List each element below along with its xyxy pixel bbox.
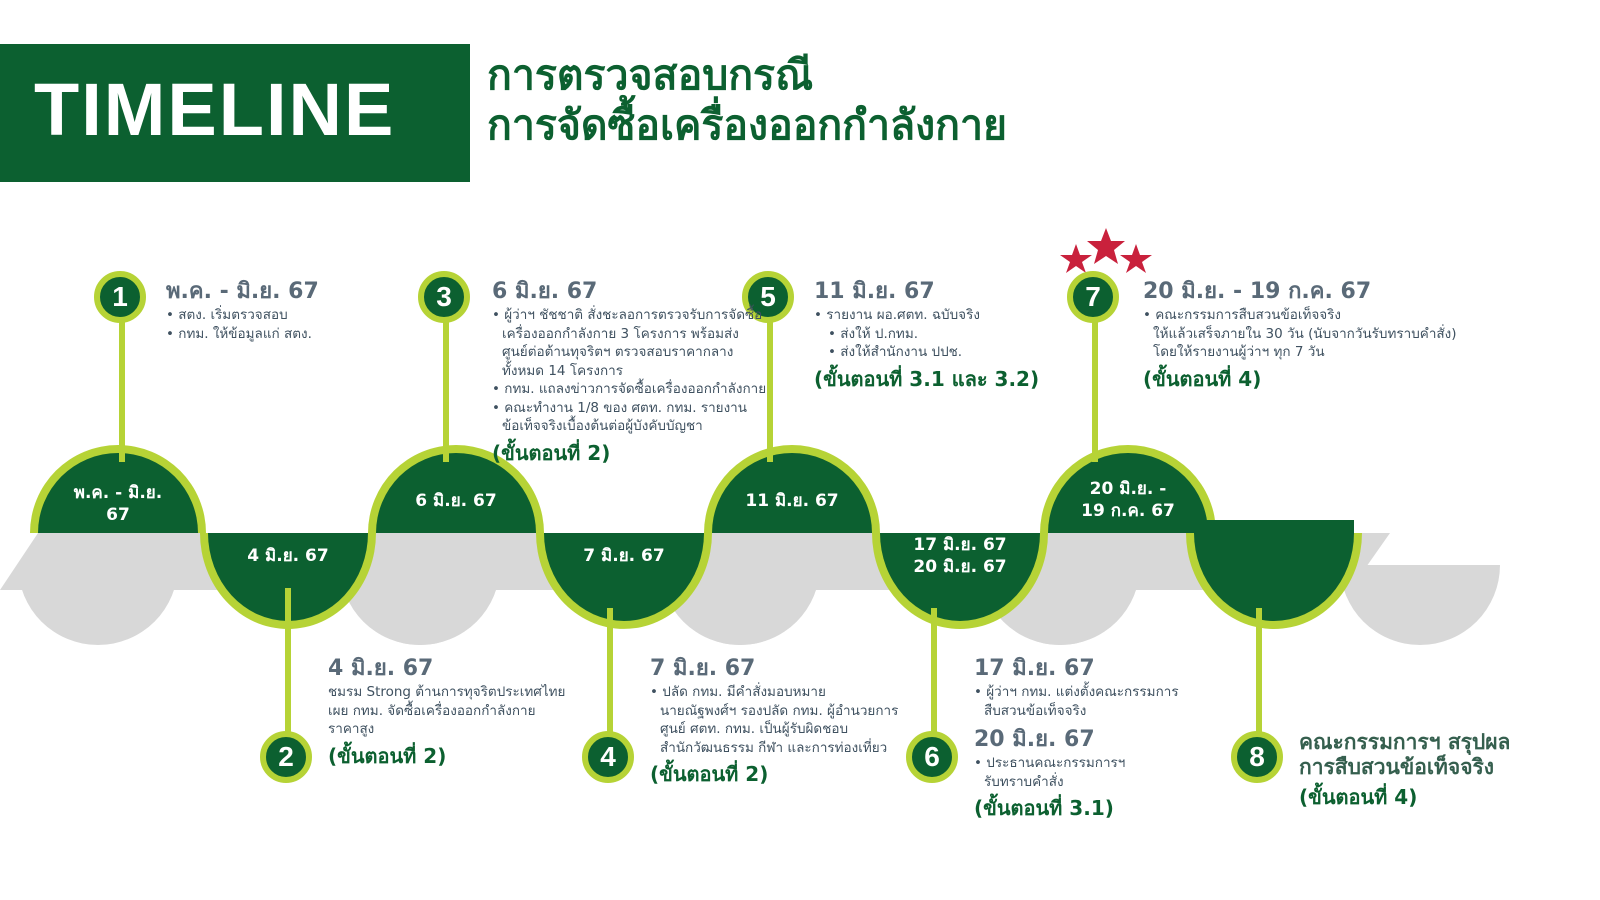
stem-3: [443, 310, 449, 462]
step-5-stage-tag: (ขั้นตอนที่ 3.1 และ 3.2): [814, 366, 1074, 392]
step-badge-7[interactable]: 7: [1067, 271, 1119, 323]
star-icon-left: [1060, 244, 1092, 273]
step-2-line-2: เผย กทม. จัดซื้อเครื่องออกกำลังกาย: [328, 702, 628, 721]
list-item-cont: สืบสวนข้อเท็จจริง: [974, 702, 1234, 721]
list-item-cont: สำนักวัฒนธรรม กีฬา และการท่องเที่ยว: [650, 739, 960, 758]
dome-label-4: 7 มิ.ย. 67: [544, 545, 704, 567]
stem-1: [119, 310, 125, 462]
list-item-cont: ศูนย์ ศตท. กทม. เป็นผู้รับผิดชอบ: [650, 720, 960, 739]
step-7-stage-tag: (ขั้นตอนที่ 4): [1143, 366, 1463, 392]
step-7-date: 20 มิ.ย. - 19 ก.ค. 67: [1143, 278, 1463, 305]
list-item-cont: ให้แล้วเสร็จภายใน 30 วัน (นับจากวันรับทร…: [1143, 325, 1463, 344]
dome-label-1-line1: พ.ค. - มิ.ย.: [74, 483, 162, 503]
dome-label-6: 17 มิ.ย. 67 20 มิ.ย. 67: [880, 534, 1040, 578]
step-5-bullets: รายงาน ผอ.ศตท. ฉบับจริง ส่งให้ ป.กทม. ส่…: [814, 306, 1074, 362]
step-6-stage-tag: (ขั้นตอนที่ 3.1): [974, 795, 1234, 821]
step-6-bullets-1: ผู้ว่าฯ กทม. แต่งตั้งคณะกรรมการ สืบสวนข้…: [974, 683, 1234, 720]
dome-label-1: พ.ค. - มิ.ย. 67: [38, 482, 198, 526]
step-badge-3[interactable]: 3: [418, 271, 470, 323]
list-item-sub: ส่งให้ ป.กทม.: [814, 325, 1074, 344]
dome-label-7-line2: 19 ก.ค. 67: [1081, 501, 1175, 521]
step-badge-8[interactable]: 8: [1231, 731, 1283, 783]
list-item: ผู้ว่าฯ ชัชชาติ สั่งชะลอการตรวจรับการจัด…: [492, 306, 802, 325]
step-content-8: คณะกรรมการฯ สรุปผล การสืบสวนข้อเท็จจริง …: [1299, 730, 1599, 810]
dome-label-3-line1: 6 มิ.ย. 67: [415, 491, 496, 511]
step-content-5: 11 มิ.ย. 67 รายงาน ผอ.ศตท. ฉบับจริง ส่งใ…: [814, 278, 1074, 392]
step-2-line-1: ชมรม Strong ต้านการทุจริตประเทศไทย: [328, 683, 628, 702]
list-item: สตง. เริ่มตรวจสอบ: [166, 306, 406, 325]
stem-2: [285, 588, 291, 736]
list-item-cont: โดยให้รายงานผู้ว่าฯ ทุก 7 วัน: [1143, 343, 1463, 362]
list-item: ผู้ว่าฯ กทม. แต่งตั้งคณะกรรมการ: [974, 683, 1234, 702]
step-2-line-3: ราคาสูง: [328, 720, 628, 739]
step-content-7: 20 มิ.ย. - 19 ก.ค. 67 คณะกรรมการสืบสวนข้…: [1143, 278, 1463, 392]
header-title-word: TIMELINE: [34, 60, 464, 160]
list-item: คณะทำงาน 1/8 ของ ศตท. กทม. รายงาน: [492, 399, 802, 418]
step-3-bullets: ผู้ว่าฯ ชัชชาติ สั่งชะลอการตรวจรับการจัด…: [492, 306, 802, 436]
step-3-date: 6 มิ.ย. 67: [492, 278, 802, 305]
step-4-stage-tag: (ขั้นตอนที่ 2): [650, 761, 960, 787]
step-8-headline-line-1: คณะกรรมการฯ สรุปผล: [1299, 730, 1599, 755]
step-6-date-2: 20 มิ.ย. 67: [974, 726, 1234, 753]
stem-7: [1092, 300, 1098, 462]
step-1-date: พ.ค. - มิ.ย. 67: [166, 278, 406, 305]
dome-label-5: 11 มิ.ย. 67: [712, 490, 872, 512]
list-item-sub: ส่งให้สำนักงาน ปปช.: [814, 343, 1074, 362]
step-2-date: 4 มิ.ย. 67: [328, 655, 628, 682]
step-1-bullets: สตง. เริ่มตรวจสอบ กทม. ให้ข้อมูลแก่ สตง.: [166, 306, 406, 343]
list-item-cont: รับทราบคำสั่ง: [974, 773, 1234, 792]
dome-label-2-line1: 4 มิ.ย. 67: [247, 546, 328, 566]
page-title-line-2: การจัดซื้อเครื่องออกกำลังกาย: [487, 100, 1307, 150]
list-item-cont: ทั้งหมด 14 โครงการ: [492, 362, 802, 381]
list-item-cont: ศูนย์ต่อต้านทุจริตฯ ตรวจสอบราคากลาง: [492, 343, 802, 362]
step-content-2: 4 มิ.ย. 67 ชมรม Strong ต้านการทุจริตประเ…: [328, 655, 628, 769]
list-item-cont: ข้อเท็จจริงเบื้องต้นต่อผู้บังคับบัญชา: [492, 417, 802, 436]
step-8-stage-tag: (ขั้นตอนที่ 4): [1299, 784, 1599, 810]
page-title: การตรวจสอบกรณี การจัดซื้อเครื่องออกกำลัง…: [487, 50, 1307, 150]
dome-label-3: 6 มิ.ย. 67: [376, 490, 536, 512]
step-4-date: 7 มิ.ย. 67: [650, 655, 960, 682]
dome-label-7: 20 มิ.ย. - 19 ก.ค. 67: [1048, 478, 1208, 522]
dome-label-6-line1: 17 มิ.ย. 67: [913, 535, 1006, 555]
list-item: คณะกรรมการสืบสวนข้อเท็จจริง: [1143, 306, 1463, 325]
star-icon-right: [1120, 244, 1152, 273]
dome-label-4-line1: 7 มิ.ย. 67: [583, 546, 664, 566]
step-2-stage-tag: (ขั้นตอนที่ 2): [328, 743, 628, 769]
stem-8: [1256, 608, 1262, 736]
list-item: ประธานคณะกรรมการฯ: [974, 754, 1234, 773]
dome-label-6-line2: 20 มิ.ย. 67: [913, 557, 1006, 577]
step-content-3: 6 มิ.ย. 67 ผู้ว่าฯ ชัชชาติ สั่งชะลอการตร…: [492, 278, 802, 466]
step-4-bullets: ปลัด กทม. มีคำสั่งมอบหมาย นายณัฐพงศ์ฯ รอ…: [650, 683, 960, 757]
step-6-bullets-2: ประธานคณะกรรมการฯ รับทราบคำสั่ง: [974, 754, 1234, 791]
list-item-cont: นายณัฐพงศ์ฯ รองปลัด กทม. ผู้อำนวยการ: [650, 702, 960, 721]
list-item-cont: เครื่องออกกำลังกาย 3 โครงการ พร้อมส่ง: [492, 325, 802, 344]
dome-label-2: 4 มิ.ย. 67: [208, 545, 368, 567]
step-content-4: 7 มิ.ย. 67 ปลัด กทม. มีคำสั่งมอบหมาย นาย…: [650, 655, 960, 787]
dome-label-7-line1: 20 มิ.ย. -: [1090, 479, 1167, 499]
dome-label-1-line2: 67: [106, 505, 130, 525]
list-item: กทม. ให้ข้อมูลแก่ สตง.: [166, 325, 406, 344]
dome-label-5-line1: 11 มิ.ย. 67: [745, 491, 838, 511]
step-8-headline-line-2: การสืบสวนข้อเท็จจริง: [1299, 755, 1599, 780]
step-badge-2[interactable]: 2: [260, 731, 312, 783]
list-item: รายงาน ผอ.ศตท. ฉบับจริง: [814, 306, 1074, 325]
page-title-line-1: การตรวจสอบกรณี: [487, 50, 1307, 100]
step-badge-1[interactable]: 1: [94, 271, 146, 323]
star-icon-center: [1087, 228, 1125, 264]
step-6-date-1: 17 มิ.ย. 67: [974, 655, 1234, 682]
infographic-canvas: TIMELINE การตรวจสอบกรณี การจัดซื้อเครื่อ…: [0, 0, 1600, 900]
step-content-1: พ.ค. - มิ.ย. 67 สตง. เริ่มตรวจสอบ กทม. ใ…: [166, 278, 406, 343]
step-5-date: 11 มิ.ย. 67: [814, 278, 1074, 305]
step-content-6: 17 มิ.ย. 67 ผู้ว่าฯ กทม. แต่งตั้งคณะกรรม…: [974, 655, 1234, 821]
list-item: ปลัด กทม. มีคำสั่งมอบหมาย: [650, 683, 960, 702]
list-item: กทม. แถลงข่าวการจัดซื้อเครื่องออกกำลังกา…: [492, 380, 802, 399]
step-7-bullets: คณะกรรมการสืบสวนข้อเท็จจริง ให้แล้วเสร็จ…: [1143, 306, 1463, 362]
step-3-stage-tag: (ขั้นตอนที่ 2): [492, 440, 802, 466]
